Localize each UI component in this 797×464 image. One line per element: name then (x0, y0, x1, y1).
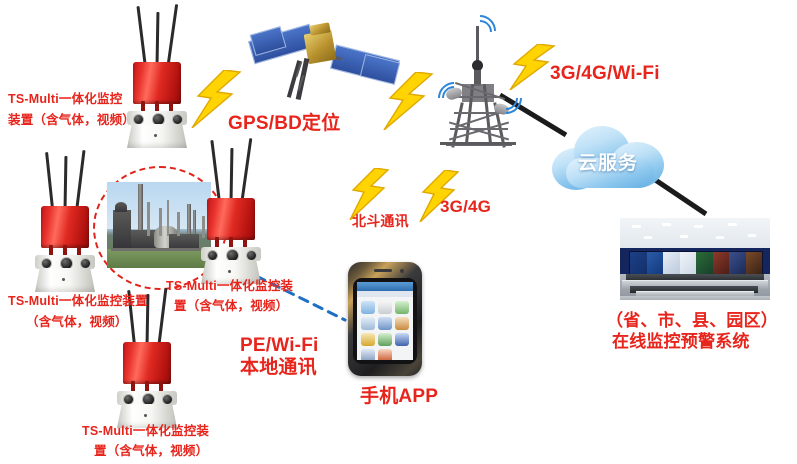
app-icon[interactable] (378, 333, 392, 346)
device-bottom-label-line2: 置（含气体，视频） (94, 444, 208, 460)
device-top-left-label-line2: 装置（含气体，视频） (8, 113, 135, 129)
app-icon[interactable] (378, 349, 392, 360)
device-mid-right (184, 138, 280, 278)
app-screen[interactable] (357, 282, 413, 360)
device-mid-left-label-line1: TS-Multi一体化监控装置 (8, 294, 148, 310)
control-room-photo (620, 218, 770, 300)
beidou-label: 北斗通讯 (352, 213, 409, 231)
mobile-app-device[interactable] (348, 262, 422, 376)
satellite-icon (250, 10, 395, 110)
local-comm-label-line2: 本地通讯 (240, 356, 317, 380)
control-center-label-line2: 在线监控预警系统 (612, 331, 750, 352)
signal-arc (457, 8, 502, 53)
cellular-3g4g-label: 3G/4G (440, 196, 491, 217)
control-center-label-line1: （省、市、县、园区） (606, 310, 778, 331)
app-icon[interactable] (395, 301, 409, 314)
app-icon[interactable] (361, 333, 375, 346)
gps-bd-label: GPS/BD定位 (228, 112, 340, 136)
device-mid-left-label-line2: （含气体，视频） (26, 315, 128, 331)
cloud-service-label: 云服务 (548, 148, 668, 175)
device-mid-right-label-line2: 置（含气体，视频） (174, 299, 288, 315)
app-icon-grid[interactable] (361, 301, 409, 360)
device-bottom-label-line1: TS-Multi一体化监控装 (82, 424, 209, 440)
cloud-service-node: 云服务 (548, 120, 668, 190)
app-icon[interactable] (361, 349, 375, 360)
video-wall (629, 251, 763, 275)
mobile-app-label: 手机APP (360, 385, 438, 409)
device-mid-left (18, 150, 114, 290)
app-icon[interactable] (378, 317, 392, 330)
app-icon[interactable] (395, 333, 409, 346)
app-icon[interactable] (361, 301, 375, 314)
app-icon (395, 349, 409, 360)
app-icon[interactable] (395, 317, 409, 330)
cellular-3g4g-wifi-label: 3G/4G/Wi-Fi (550, 62, 660, 86)
app-icon[interactable] (378, 301, 392, 314)
app-icon[interactable] (361, 317, 375, 330)
device-top-left-label-line1: TS-Multi一体化监控 (8, 92, 122, 108)
diagram-canvas: 云服务 (0, 0, 797, 464)
device-mid-right-label-line1: TS-Multi一体化监控装 (166, 279, 293, 295)
cell-tower-icon (432, 26, 524, 154)
local-comm-label-line1: PE/Wi-Fi (240, 334, 318, 358)
